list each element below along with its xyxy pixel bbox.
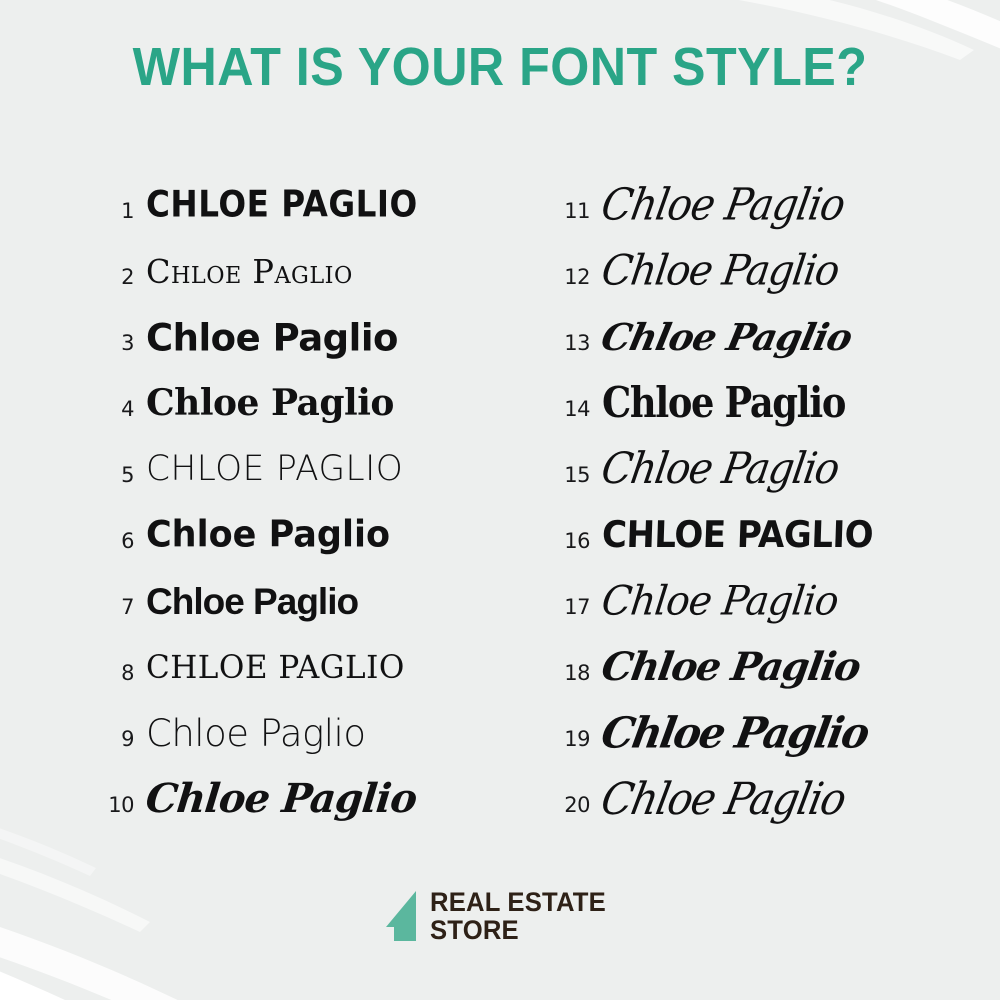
font-sample-row[interactable]: 15 Chloe Paglio <box>556 436 976 502</box>
logo-line-2: STORE <box>430 916 606 944</box>
font-sample-text: CHLOE PAGLIO <box>146 452 513 487</box>
font-sample-number: 13 <box>556 333 602 354</box>
font-sample-text: Chloe Paglio <box>599 250 979 292</box>
font-sample-number: 4 <box>100 399 146 420</box>
font-sample-row[interactable]: 8 CHLOE PAGLIO <box>100 634 520 700</box>
font-sample-text: Chloe Paglio <box>146 715 520 752</box>
font-sample-row[interactable]: 4 Chloe Paglio <box>100 370 520 436</box>
font-sample-row[interactable]: 18 Chloe Paglio <box>556 634 976 700</box>
font-sample-text: CHLOE PAGLIO <box>601 517 976 554</box>
font-sample-row[interactable]: 19 Chloe Paglio <box>556 700 976 766</box>
font-sample-number: 2 <box>100 267 146 288</box>
font-sample-row[interactable]: 16 CHLOE PAGLIO <box>556 502 976 568</box>
font-sample-number: 5 <box>100 465 146 486</box>
font-sample-text: Chloe Paglio <box>146 583 520 620</box>
font-sample-text: Chloe Paglio <box>598 183 980 227</box>
font-sample-number: 9 <box>100 729 146 750</box>
font-sample-row[interactable]: 2 Chloe Paglio <box>100 238 520 304</box>
font-sample-text: Chloe Paglio <box>599 447 980 490</box>
font-sample-row[interactable]: 14 Chloe Paglio <box>556 370 976 436</box>
font-sample-row[interactable]: 17 Chloe Paglio <box>556 568 976 634</box>
logo-wordmark: REAL ESTATE STORE <box>430 888 606 944</box>
font-sample-number: 11 <box>556 201 602 222</box>
footer-logo[interactable]: REAL ESTATE STORE <box>0 888 1000 944</box>
font-sample-number: 6 <box>100 531 146 552</box>
font-sample-row[interactable]: 13 Chloe Paglio <box>556 304 976 370</box>
font-sample-text: Chloe Paglio <box>146 318 520 356</box>
font-sample-text: Chloe Paglio <box>598 712 980 755</box>
font-sample-text: Chloe Paglio <box>602 382 946 424</box>
font-sample-number: 16 <box>556 531 602 552</box>
font-sample-text: Chloe Paglio <box>600 581 979 622</box>
font-sample-list: 1 CHLOE PAGLIO 2 Chloe Paglio 3 Chloe Pa… <box>0 172 1000 852</box>
poster-canvas: WHAT IS YOUR FONT STYLE? 1 CHLOE PAGLIO … <box>0 0 1000 1000</box>
font-sample-number: 3 <box>100 333 146 354</box>
page-title: WHAT IS YOUR FONT STYLE? <box>35 36 965 98</box>
font-sample-text: CHLOE PAGLIO <box>146 651 509 683</box>
font-sample-text: Chloe Paglio <box>599 648 979 687</box>
font-sample-text: Chloe Paglio <box>598 777 981 821</box>
font-sample-number: 7 <box>100 597 146 618</box>
font-sample-number: 15 <box>556 465 602 486</box>
house-arrow-logo-icon <box>384 889 418 943</box>
font-sample-row[interactable]: 10 Chloe Paglio <box>100 766 520 832</box>
font-sample-text: Chloe Paglio <box>146 255 509 288</box>
font-sample-number: 12 <box>556 267 602 288</box>
font-sample-number: 14 <box>556 399 602 420</box>
font-sample-number: 19 <box>556 729 602 750</box>
font-sample-text: Chloe Paglio <box>146 517 520 554</box>
font-sample-column-right: 11 Chloe Paglio 12 Chloe Paglio 13 Chloe… <box>556 172 976 832</box>
font-sample-number: 20 <box>556 795 602 816</box>
font-sample-row[interactable]: 3 Chloe Paglio <box>100 304 520 370</box>
font-sample-row[interactable]: 11 Chloe Paglio <box>556 172 976 238</box>
font-sample-row[interactable]: 5 CHLOE PAGLIO <box>100 436 520 502</box>
font-sample-text: CHLOE PAGLIO <box>146 187 505 223</box>
font-sample-text: Chloe Paglio <box>146 385 520 421</box>
font-sample-text: Chloe Paglio <box>598 319 980 356</box>
font-sample-column-left: 1 CHLOE PAGLIO 2 Chloe Paglio 3 Chloe Pa… <box>100 172 520 832</box>
font-sample-number: 1 <box>100 201 146 222</box>
font-sample-number: 8 <box>100 663 146 684</box>
font-sample-number: 18 <box>556 663 602 684</box>
font-sample-row[interactable]: 1 CHLOE PAGLIO <box>100 172 520 238</box>
font-sample-number: 10 <box>100 795 146 816</box>
font-sample-row[interactable]: 20 Chloe Paglio <box>556 766 976 832</box>
logo-inner: REAL ESTATE STORE <box>384 888 615 944</box>
font-sample-text: Chloe Paglio <box>144 779 522 819</box>
font-sample-row[interactable]: 6 Chloe Paglio <box>100 502 520 568</box>
font-sample-row[interactable]: 7 Chloe Paglio <box>100 568 520 634</box>
font-sample-number: 17 <box>556 597 602 618</box>
logo-line-1: REAL ESTATE <box>430 888 606 916</box>
font-sample-row[interactable]: 9 Chloe Paglio <box>100 700 520 766</box>
font-sample-row[interactable]: 12 Chloe Paglio <box>556 238 976 304</box>
